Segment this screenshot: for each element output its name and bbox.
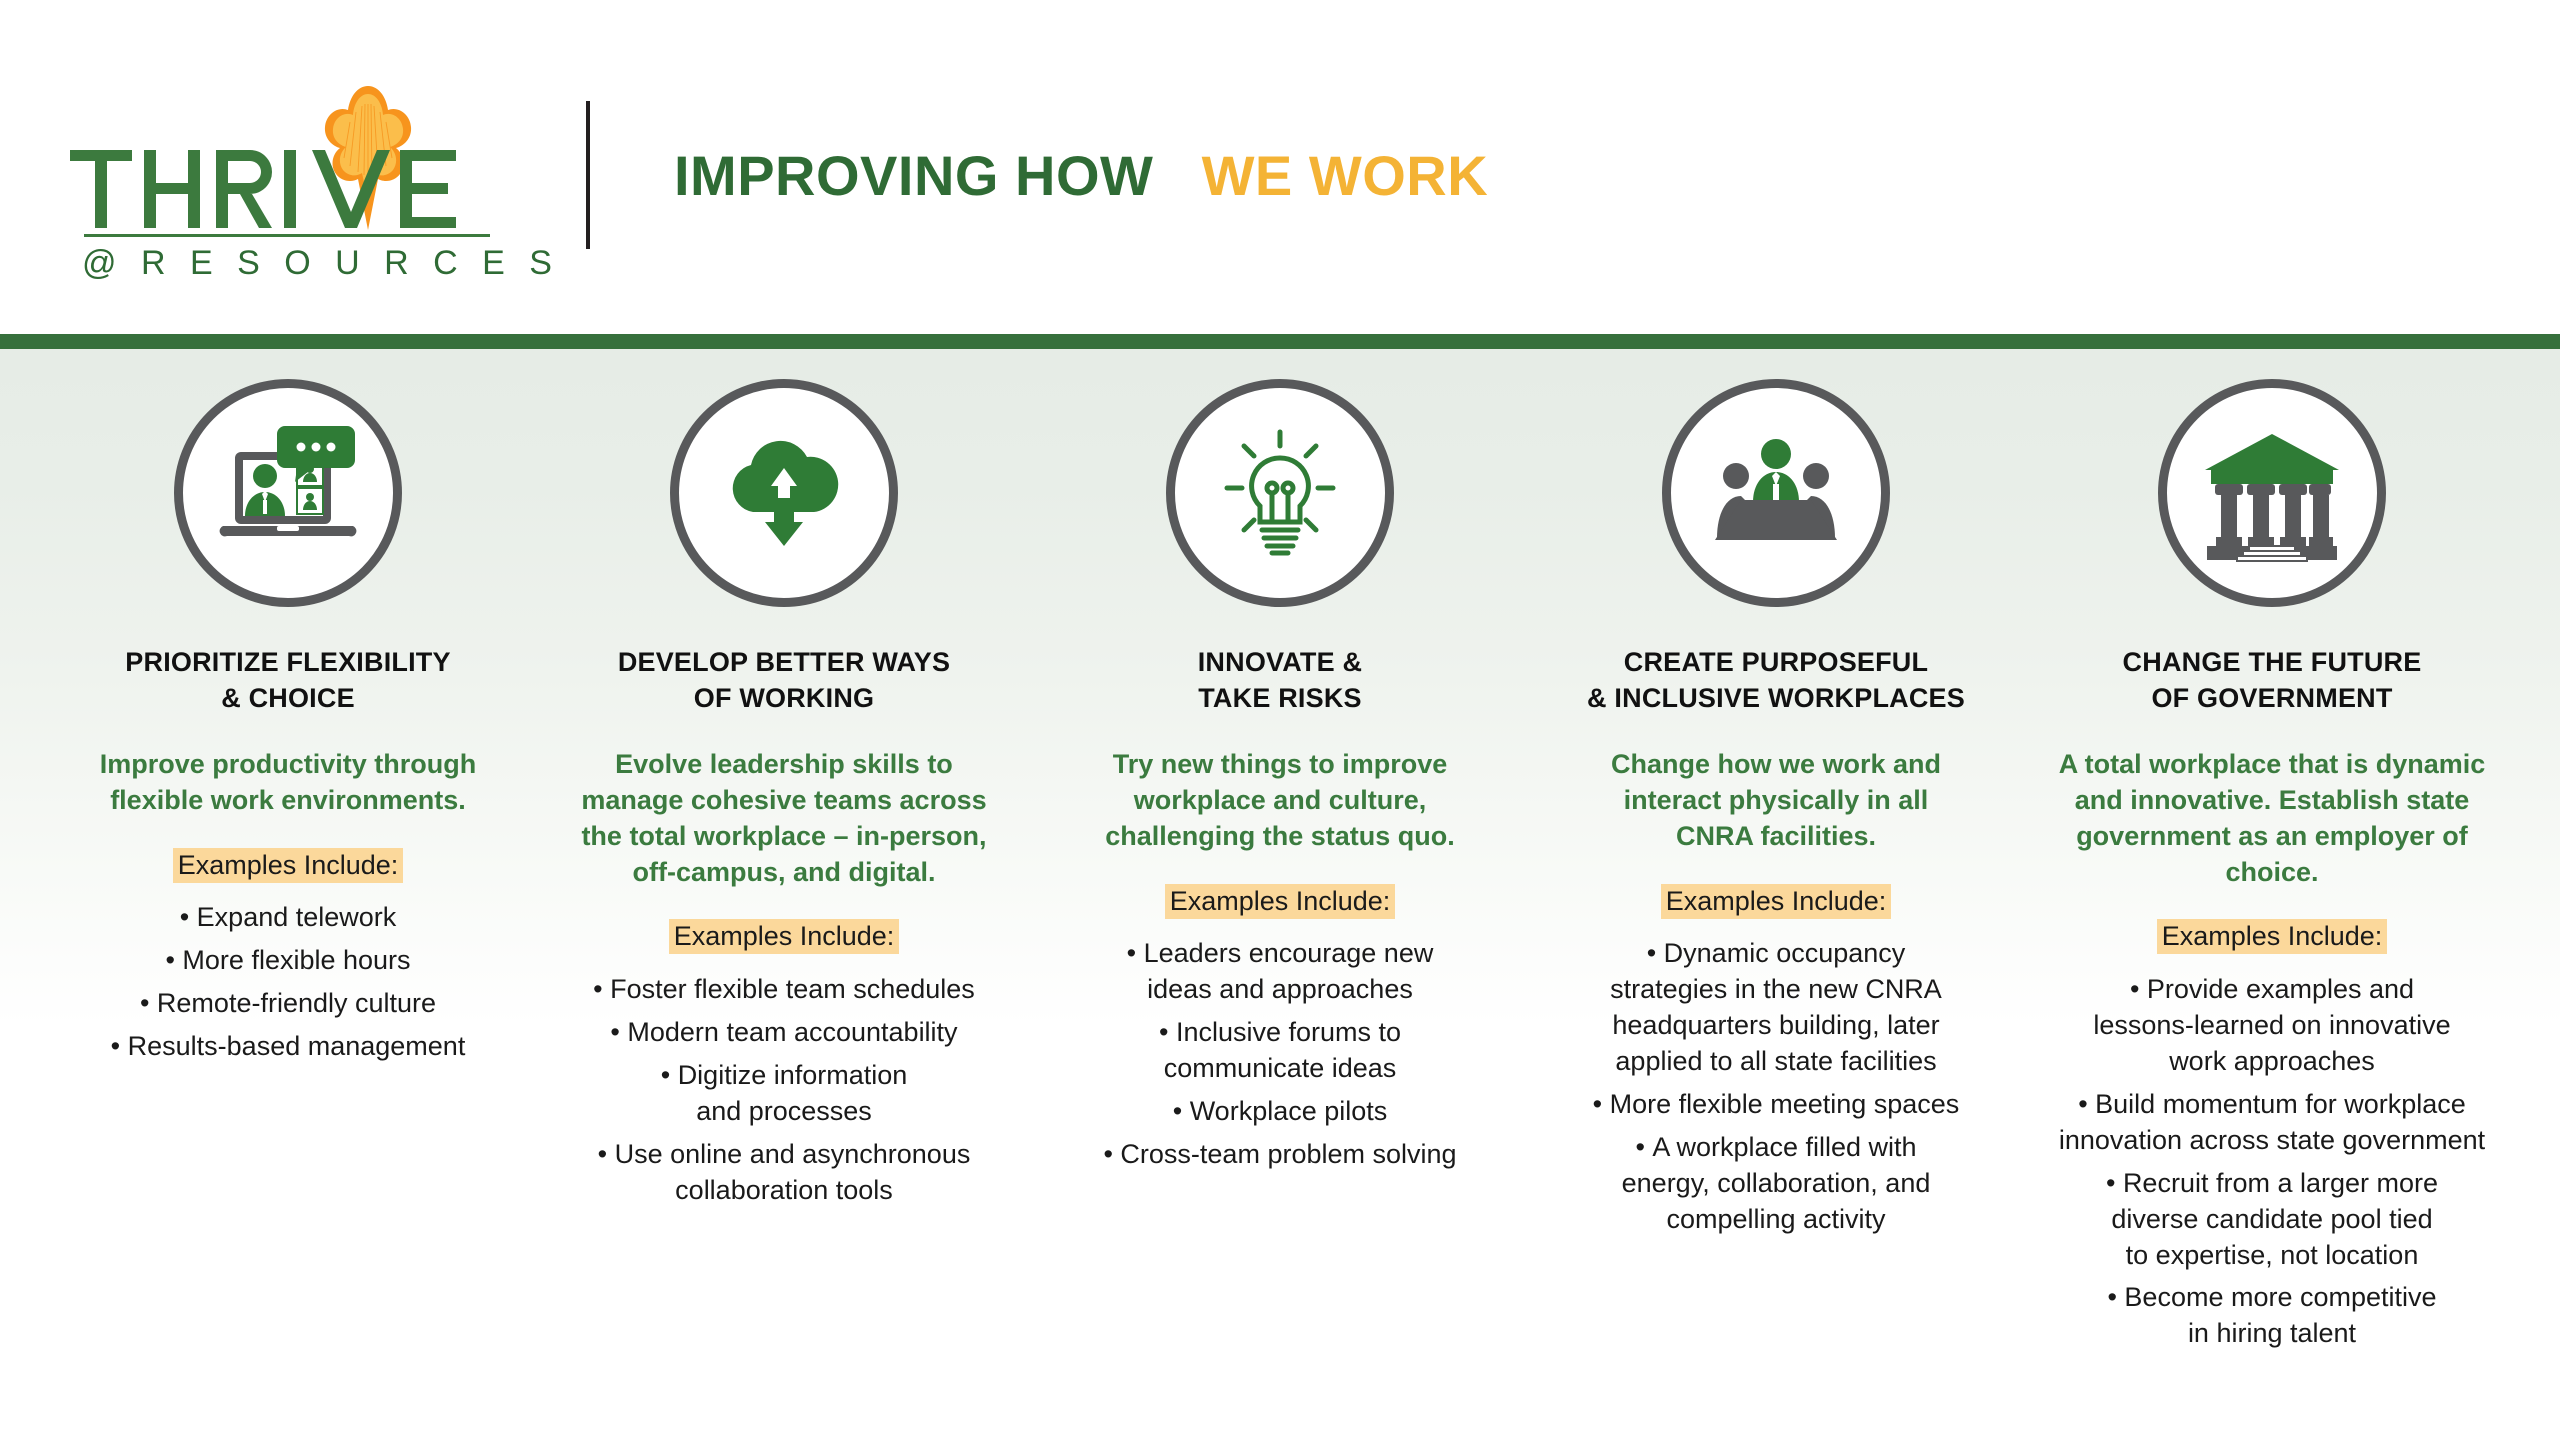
- thrive-wordmark: [70, 150, 502, 228]
- list-item: Modern team accountability: [560, 1015, 1008, 1051]
- list-item: More flexible meeting spaces: [1552, 1087, 2000, 1123]
- pillar-columns: PRIORITIZE FLEXIBILITY & CHOICE Improve …: [0, 349, 2560, 1359]
- pillar-description: Improve productivity through flexible wo…: [100, 747, 477, 819]
- examples-label-wrap: Examples Include:: [560, 918, 1008, 956]
- examples-label-wrap: Examples Include:: [2048, 918, 2496, 956]
- icon-circle-4: [1662, 379, 1890, 607]
- pillar-column-create-purposeful-workplaces: CREATE PURPOSEFUL & INCLUSIVE WORKPLACES…: [1528, 349, 2024, 1359]
- page-title-gold: WE WORK: [1202, 144, 1489, 207]
- icon-circle-3: [1166, 379, 1394, 607]
- pillar-description: Change how we work and interact physical…: [1611, 747, 1941, 855]
- icon-circle-2: [670, 379, 898, 607]
- pillar-column-innovate-take-risks: INNOVATE & TAKE RISKS Try new things to …: [1032, 349, 1528, 1359]
- header-vertical-divider: [586, 101, 590, 249]
- pillar-column-prioritize-flexibility: PRIORITIZE FLEXIBILITY & CHOICE Improve …: [40, 349, 536, 1359]
- list-item: Foster flexible team schedules: [560, 972, 1008, 1008]
- list-item: Build momentum for workplace innovation …: [2048, 1087, 2496, 1159]
- pillar-title: CREATE PURPOSEFUL & INCLUSIVE WORKPLACES: [1587, 645, 1965, 717]
- examples-include-label: Examples Include:: [1165, 884, 1396, 919]
- examples-include-label: Examples Include:: [669, 919, 900, 954]
- page-title-green: IMPROVING HOW: [674, 144, 1153, 207]
- pillar-column-develop-better-ways: DEVELOP BETTER WAYS OF WORKING Evolve le…: [536, 349, 1032, 1359]
- list-item: Leaders encourage new ideas and approach…: [1056, 936, 1504, 1008]
- examples-include-label: Examples Include:: [173, 848, 404, 883]
- icon-circle-5: [2158, 379, 2386, 607]
- list-item: A workplace filled with energy, collabor…: [1552, 1130, 2000, 1238]
- examples-label-wrap: Examples Include:: [64, 847, 512, 885]
- meeting-table-people-icon: [1701, 418, 1851, 568]
- list-item: Provide examples and lessons-learned on …: [2048, 972, 2496, 1080]
- pillar-description: Try new things to improve workplace and …: [1105, 747, 1455, 855]
- page-title: IMPROVING HOW WE WORK: [674, 143, 1488, 208]
- list-item: Dynamic occupancy strategies in the new …: [1552, 936, 2000, 1080]
- list-item: Remote-friendly culture: [64, 986, 512, 1022]
- page-header: @ R E S O U R C E S IMPROVING HOW WE WOR…: [0, 0, 2560, 334]
- government-building-icon: [2197, 418, 2347, 568]
- list-item: Use online and asynchronous collaboratio…: [560, 1137, 1008, 1209]
- pillar-bullet-list: Expand telework More flexible hours Remo…: [64, 900, 512, 1072]
- list-item: Workplace pilots: [1056, 1094, 1504, 1130]
- pillar-description: Evolve leadership skills to manage cohes…: [581, 747, 986, 891]
- content-area: PRIORITIZE FLEXIBILITY & CHOICE Improve …: [0, 349, 2560, 1440]
- list-item: Become more competitive in hiring talent: [2048, 1280, 2496, 1352]
- examples-label-wrap: Examples Include:: [1552, 883, 2000, 921]
- lightbulb-idea-icon: [1205, 418, 1355, 568]
- examples-include-label: Examples Include:: [2157, 919, 2388, 954]
- list-item: Digitize information and processes: [560, 1058, 1008, 1130]
- laptop-video-conference-icon: [213, 418, 363, 568]
- pillar-bullet-list: Provide examples and lessons-learned on …: [2048, 972, 2496, 1359]
- pillar-title: INNOVATE & TAKE RISKS: [1198, 645, 1363, 717]
- pillar-bullet-list: Dynamic occupancy strategies in the new …: [1552, 936, 2000, 1244]
- list-item: Inclusive forums to communicate ideas: [1056, 1015, 1504, 1087]
- pillar-title: CHANGE THE FUTURE OF GOVERNMENT: [2123, 645, 2422, 717]
- list-item: Results-based management: [64, 1029, 512, 1065]
- pillar-bullet-list: Leaders encourage new ideas and approach…: [1056, 936, 1504, 1179]
- list-item: Expand telework: [64, 900, 512, 936]
- pillar-description: A total workplace that is dynamic and in…: [2048, 747, 2496, 891]
- cloud-upload-download-icon: [709, 418, 859, 568]
- pillar-title: PRIORITIZE FLEXIBILITY & CHOICE: [125, 645, 450, 717]
- logo-subtitle: @ R E S O U R C E S: [82, 244, 502, 283]
- pillar-title: DEVELOP BETTER WAYS OF WORKING: [618, 645, 950, 717]
- list-item: Cross-team problem solving: [1056, 1137, 1504, 1173]
- green-divider-bar: [0, 334, 2560, 349]
- examples-label-wrap: Examples Include:: [1056, 883, 1504, 921]
- list-item: More flexible hours: [64, 943, 512, 979]
- infographic-poster: @ R E S O U R C E S IMPROVING HOW WE WOR…: [0, 0, 2560, 1440]
- examples-include-label: Examples Include:: [1661, 884, 1892, 919]
- pillar-bullet-list: Foster flexible team schedules Modern te…: [560, 972, 1008, 1215]
- pillar-column-change-future-government: CHANGE THE FUTURE OF GOVERNMENT A total …: [2024, 349, 2520, 1359]
- thrive-logo: @ R E S O U R C E S: [62, 62, 502, 272]
- icon-circle-1: [174, 379, 402, 607]
- logo-divider-rule: [84, 234, 490, 237]
- list-item: Recruit from a larger more diverse candi…: [2048, 1166, 2496, 1274]
